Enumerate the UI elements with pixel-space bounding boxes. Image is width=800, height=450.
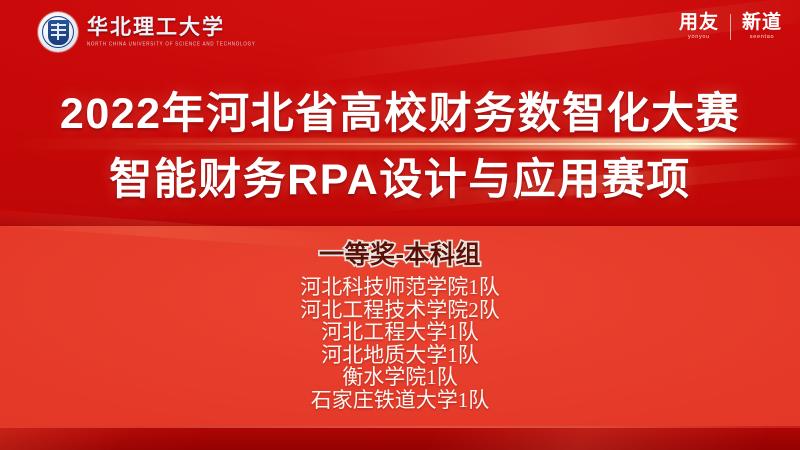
bottom-band-sheen-left (0, 426, 203, 450)
partner-name-en: yonyou (688, 35, 710, 41)
partner-logo-seentao: 新道 seentao (742, 13, 782, 41)
winner-list-item: 石家庄铁道大学1队 (0, 389, 800, 412)
partner-name-cn: 新道 (742, 13, 782, 32)
university-name-en: NORTH CHINA UNIVERSITY OF SCIENCE AND TE… (87, 42, 256, 47)
winner-list-item: 河北地质大学1队 (0, 344, 800, 367)
university-logo: 华北理工大学 NORTH CHINA UNIVERSITY OF SCIENCE… (38, 12, 256, 52)
winner-list-item: 河北科技师范学院1队 (0, 276, 800, 299)
partner-logo-yonyou: 用友 yonyou (679, 13, 719, 41)
background-bottom-band (0, 426, 800, 450)
slide-header: 华北理工大学 NORTH CHINA UNIVERSITY OF SCIENCE… (0, 0, 800, 62)
competition-title-line-2: 智能财务RPA设计与应用赛项 (0, 150, 800, 210)
award-block: 一等奖-本科组 河北科技师范学院1队 河北工程技术学院2队 河北工程大学1队 河… (0, 240, 800, 427)
winner-list-item: 河北工程大学1队 (0, 321, 800, 344)
university-name-cn: 华北理工大学 (87, 17, 256, 38)
competition-title-line-1: 2022年河北省高校财务数智化大赛 (0, 84, 800, 144)
bottom-band-sheen-right (422, 426, 769, 450)
university-crest-icon (38, 12, 78, 52)
award-announcement-slide: 华北理工大学 NORTH CHINA UNIVERSITY OF SCIENCE… (0, 0, 800, 450)
award-category-heading: 一等奖-本科组 (0, 240, 800, 270)
winner-list-item: 衡水学院1队 (0, 366, 800, 389)
partner-logo-divider (730, 14, 731, 40)
partner-logos: 用友 yonyou 新道 seentao (679, 13, 782, 41)
winner-list: 河北科技师范学院1队 河北工程技术学院2队 河北工程大学1队 河北地质大学1队 … (0, 276, 800, 411)
partner-name-en: seentao (750, 35, 774, 41)
competition-title-block: 2022年河北省高校财务数智化大赛 智能财务RPA设计与应用赛项 (0, 84, 800, 210)
winner-list-item: 河北工程技术学院2队 (0, 299, 800, 322)
partner-name-cn: 用友 (679, 13, 719, 32)
university-wordmark: 华北理工大学 NORTH CHINA UNIVERSITY OF SCIENCE… (87, 17, 256, 46)
